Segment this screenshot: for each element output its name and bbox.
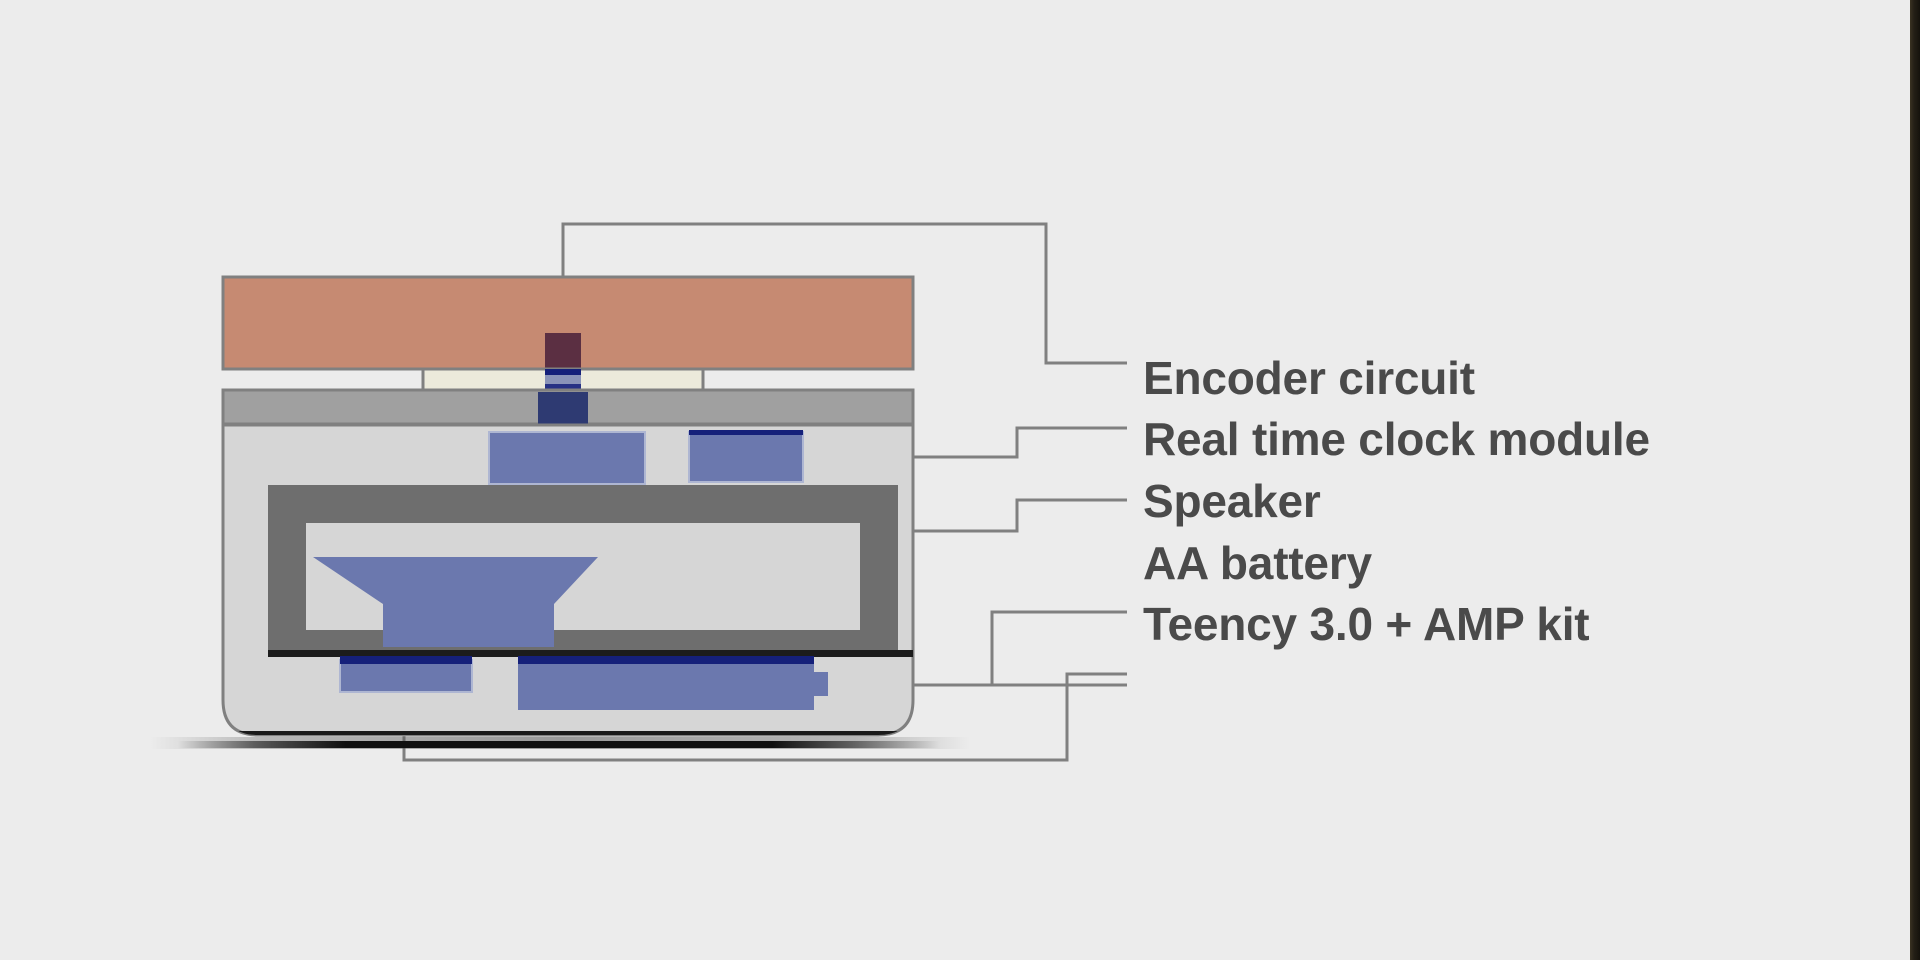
- right-edge-strip: [1910, 0, 1920, 960]
- speaker-frame-base: [268, 630, 898, 652]
- speaker-frame-shadow: [268, 650, 913, 657]
- encoder-shaft-upper-edge: [545, 369, 581, 375]
- diagram-canvas: Encoder circuit Real time clock module S…: [0, 0, 1920, 960]
- aa-battery-cell: [518, 660, 828, 710]
- ground-shadow: [150, 737, 970, 749]
- real-time-clock-module-edge: [689, 430, 803, 435]
- real-time-clock-module-board: [689, 432, 803, 482]
- teency-amp-board: [340, 660, 472, 692]
- left-module-board: [489, 432, 645, 484]
- teency-amp-board-edge: [340, 656, 472, 664]
- aa-battery-terminal-strip: [518, 656, 814, 664]
- device-cross-section-illustration: [0, 0, 1920, 960]
